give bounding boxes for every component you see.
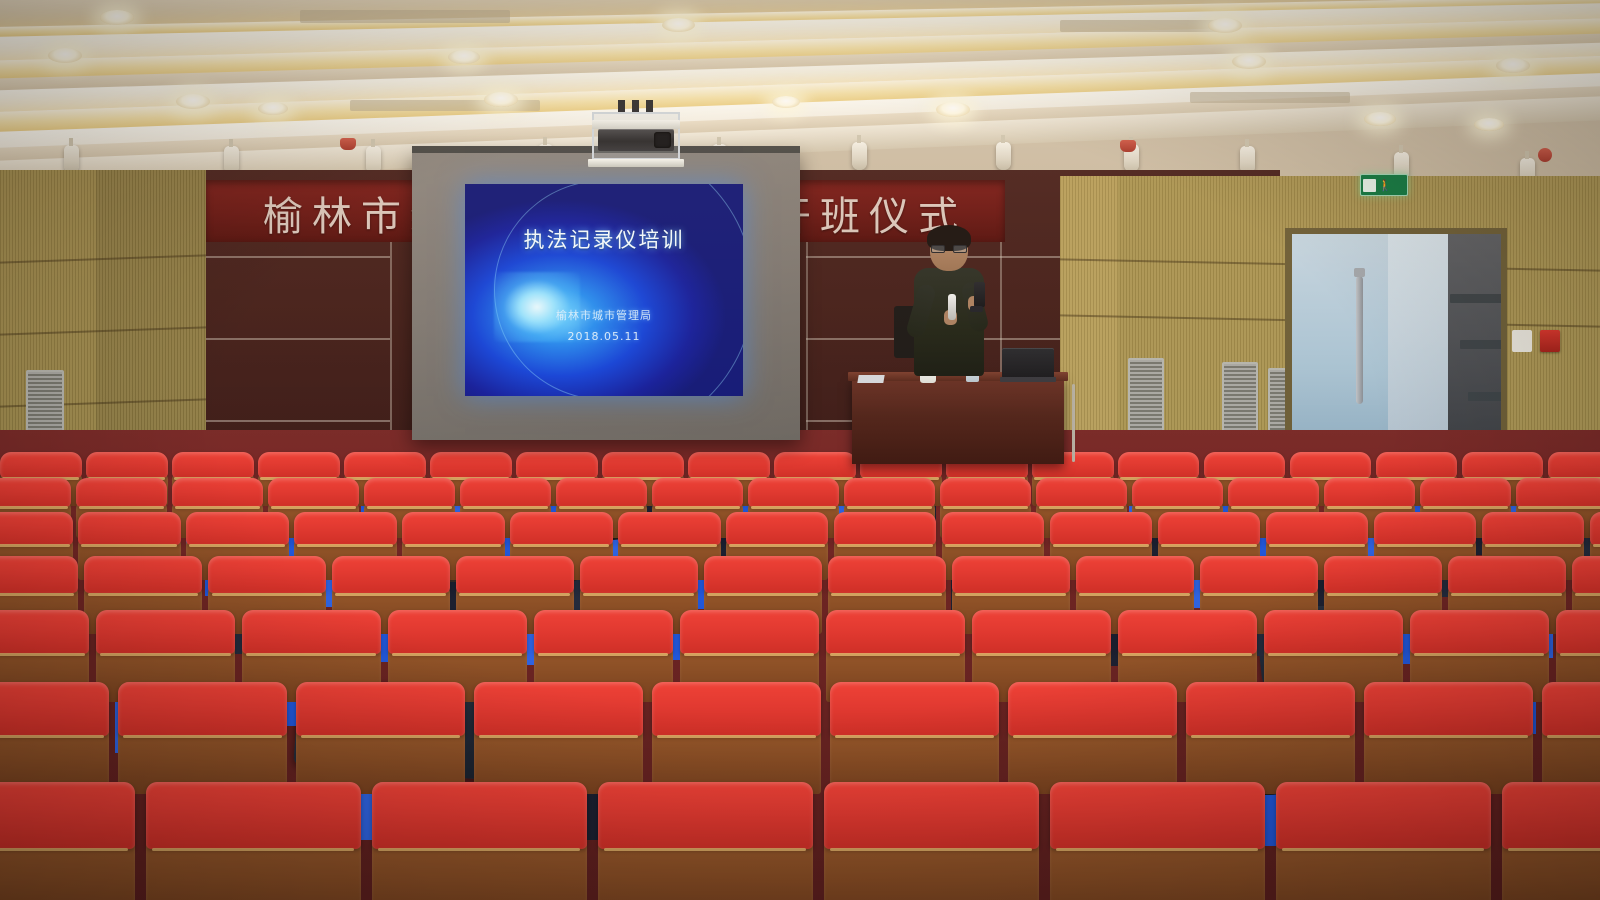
seat-cushion-top [146,782,361,849]
seat-trim-line [0,848,128,851]
seat-trim-line [1508,848,1600,851]
seat-cushion-top [598,782,813,849]
podium-table [852,378,1064,464]
downlight-icon [176,94,210,109]
downlight-icon [484,92,518,107]
ceiling-projector [592,112,680,160]
fire-alarm-button[interactable] [1540,330,1560,352]
downlight-icon [258,102,288,115]
seat-cushion-top [824,782,1039,849]
auditorium-seat[interactable] [372,782,587,900]
auditorium-seat[interactable] [824,782,1039,900]
downlight-icon [1474,118,1504,131]
downlight-icon [448,50,480,64]
seat-trim-line [1282,848,1484,851]
downlight-icon [1232,54,1266,69]
auditorium-seat[interactable] [1050,782,1265,900]
seat-cushion-top [372,782,587,849]
smoke-detector-icon [1120,140,1136,152]
auditorium-seat[interactable] [146,782,361,900]
downlight-icon [100,10,134,25]
seat-trim-line [378,848,580,851]
light-switch[interactable] [1512,330,1532,352]
projection-screen: 执法记录仪培训 榆林市城市管理局 2018.05.11 [412,152,800,440]
auditorium-seat[interactable] [0,782,135,900]
speaker-presenter [900,228,996,388]
auditorium-seat[interactable] [1276,782,1491,900]
projector-lens-icon [654,132,671,148]
papers-on-podium [857,375,884,383]
presentation-slide: 执法记录仪培训 榆林市城市管理局 2018.05.11 [465,184,743,396]
corridor-shelf [1460,340,1507,349]
spotlight-lamp [996,142,1011,170]
projector-plate [592,120,680,129]
handheld-recorder [974,282,985,307]
power-cable [1072,384,1075,462]
microphone [948,294,956,320]
seat-trim-line [604,848,806,851]
corridor-shelf [1450,294,1507,303]
slide-date: 2018.05.11 [465,330,743,343]
glasses-icon [931,245,967,253]
downlight-icon [1496,58,1530,73]
laptop[interactable] [1000,348,1056,382]
seat-row [0,782,1600,900]
slide-title: 执法记录仪培训 [465,224,743,254]
ceiling-vent [300,10,510,23]
smoke-detector-icon [340,138,356,150]
seat-trim-line [830,848,1032,851]
ceiling-vent [1190,92,1350,103]
smoke-detector-icon [1538,148,1552,162]
spotlight-lamp [852,142,867,170]
seat-cushion-top [1276,782,1491,849]
auditorium-seat[interactable] [1502,782,1600,900]
laptop-screen [1002,348,1054,378]
projector-body [598,129,674,151]
seat-cushion-top [0,782,135,849]
seat-cushion-top [1502,782,1600,849]
downlight-icon [1364,112,1396,126]
seat-trim-line [152,848,354,851]
ceiling [0,0,1600,185]
wristwatch [970,306,983,312]
downlight-icon [772,96,800,108]
corridor-shelf [1468,392,1507,401]
auditorium-seat[interactable] [598,782,813,900]
exit-door-icon [1363,179,1376,192]
door-handle[interactable] [1356,276,1363,404]
running-man-icon: 🚶 [1378,180,1405,191]
spotlight-lamp [64,145,79,173]
seat-cushion-top [1050,782,1265,849]
laptop-base [1000,377,1056,382]
downlight-icon [936,102,970,117]
auditorium-scene: 榆林市综合 训开班仪式 🚶 [0,0,1600,900]
downlight-icon [1208,18,1242,33]
downlight-icon [662,18,695,32]
slide-subtitle: 榆林市城市管理局 [465,307,743,323]
exit-sign: 🚶 [1360,174,1408,196]
projector-base [588,159,684,167]
seat-trim-line [1056,848,1258,851]
downlight-icon [48,48,82,63]
ceiling-vent [1060,20,1230,32]
